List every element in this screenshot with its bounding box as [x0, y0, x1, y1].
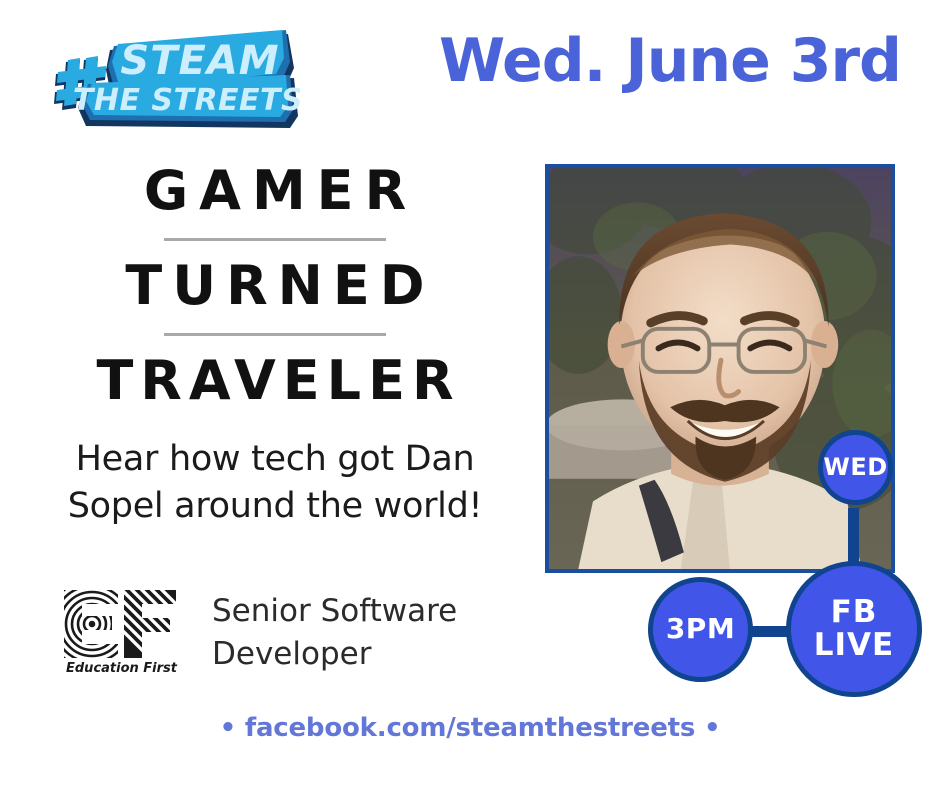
left-content-column: GAMER TURNED TRAVELER Hear how tech got … [30, 160, 520, 530]
event-description: Hear how tech got Dan Sopel around the w… [30, 436, 520, 530]
speaker-job-title: Senior Software Developer [212, 590, 502, 676]
graffiti-logo-artwork: STEAM THE STREETS [54, 30, 300, 128]
badge-platform: FB LIVE [786, 561, 922, 697]
headline-line-2: TURNED [30, 259, 520, 313]
steam-the-streets-logo: STEAM THE STREETS [50, 22, 300, 132]
badge-time: 3PM [648, 577, 753, 682]
employer-row: Education First Senior Software Develope… [58, 584, 502, 676]
headline-divider-2 [164, 333, 386, 336]
badge-day: WED [818, 430, 893, 505]
headline-line-1: GAMER [30, 164, 520, 218]
headline-line-3: TRAVELER [30, 354, 520, 408]
event-badge-cluster: WED 3PM FB LIVE [640, 430, 940, 710]
event-date: Wed. June 3rd [420, 26, 920, 96]
badge-platform-line1: FB [831, 596, 878, 629]
headline-divider-1 [164, 238, 386, 241]
svg-text:THE STREETS: THE STREETS [73, 83, 300, 118]
ef-logo-tagline: Education First [66, 661, 178, 676]
facebook-page-link[interactable]: • facebook.com/steamthestreets • [0, 713, 940, 743]
ef-education-first-logo-icon: Education First [58, 584, 182, 676]
badge-time-label: 3PM [666, 614, 735, 644]
badge-platform-line2: LIVE [814, 629, 894, 662]
badge-day-label: WED [823, 455, 887, 481]
event-promo-poster: STEAM THE STREETS Wed. June 3rd GAMER TU… [0, 0, 940, 788]
